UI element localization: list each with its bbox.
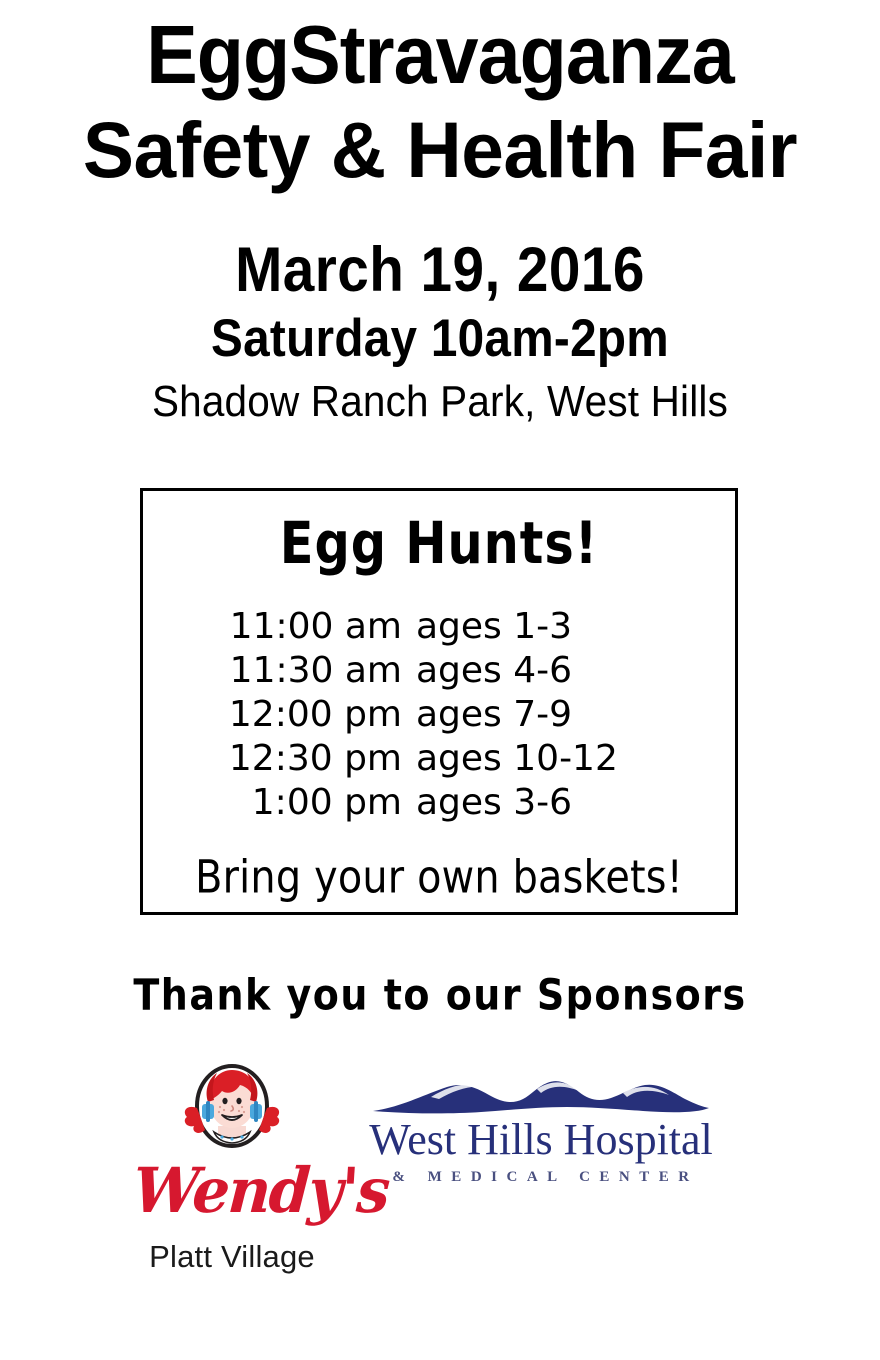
schedule-time: 11:00 am [224, 605, 416, 649]
egg-hunts-schedule-list: 11:00 am ages 1-3 11:30 am ages 4-6 12:0… [143, 605, 735, 825]
wendys-girl-icon [178, 1060, 286, 1160]
schedule-ages: ages 7-9 [416, 693, 572, 737]
schedule-ages: ages 1-3 [416, 605, 572, 649]
schedule-ages: ages 10-12 [416, 737, 618, 781]
schedule-time: 1:00 pm [224, 781, 416, 825]
schedule-time: 12:30 pm [224, 737, 416, 781]
west-hills-hospital-sublabel: & MEDICAL CENTER [368, 1167, 714, 1187]
schedule-row: 11:30 am ages 4-6 [224, 649, 654, 693]
egg-hunts-panel: Egg Hunts! 11:00 am ages 1-3 11:30 am ag… [140, 488, 738, 915]
sponsor-wendys: Wendy's Platt Village [128, 1055, 336, 1276]
schedule-time: 11:30 am [224, 649, 416, 693]
wendys-wordmark: Wendy's [131, 1158, 333, 1224]
west-hills-hospital-wordmark: West Hills Hospital [368, 1115, 714, 1165]
hills-ridge-icon [371, 1071, 711, 1117]
schedule-row: 12:30 pm ages 10-12 [224, 737, 654, 781]
flyer-title-primary: EggStravaganza [31, 6, 849, 104]
event-day-and-time: Saturday 10am-2pm [44, 308, 836, 370]
headline-block: EggStravaganza Safety & Health Fair [0, 6, 880, 196]
schedule-row: 1:00 pm ages 3-6 [224, 781, 654, 825]
sponsors-heading: Thank you to our Sponsors [0, 969, 880, 1021]
sponsor-west-hills-hospital: West Hills Hospital & MEDICAL CENTER [368, 1071, 714, 1187]
event-date: March 19, 2016 [44, 234, 836, 306]
schedule-row: 12:00 pm ages 7-9 [224, 693, 654, 737]
wendys-location-label: Platt Village [128, 1238, 336, 1276]
flyer-page: EggStravaganza Safety & Health Fair Marc… [0, 0, 880, 1360]
egg-hunts-heading: Egg Hunts! [158, 512, 720, 577]
flyer-title-secondary: Safety & Health Fair [13, 104, 867, 196]
event-location: Shadow Ranch Park, West Hills [35, 376, 845, 428]
schedule-ages: ages 3-6 [416, 781, 572, 825]
schedule-row: 11:00 am ages 1-3 [224, 605, 654, 649]
egg-hunts-note: Bring your own baskets! [152, 851, 726, 904]
sponsor-logos-row: Wendy's Platt Village West Hills Hospita… [0, 1055, 880, 1305]
schedule-time: 12:00 pm [224, 693, 416, 737]
schedule-ages: ages 4-6 [416, 649, 572, 693]
